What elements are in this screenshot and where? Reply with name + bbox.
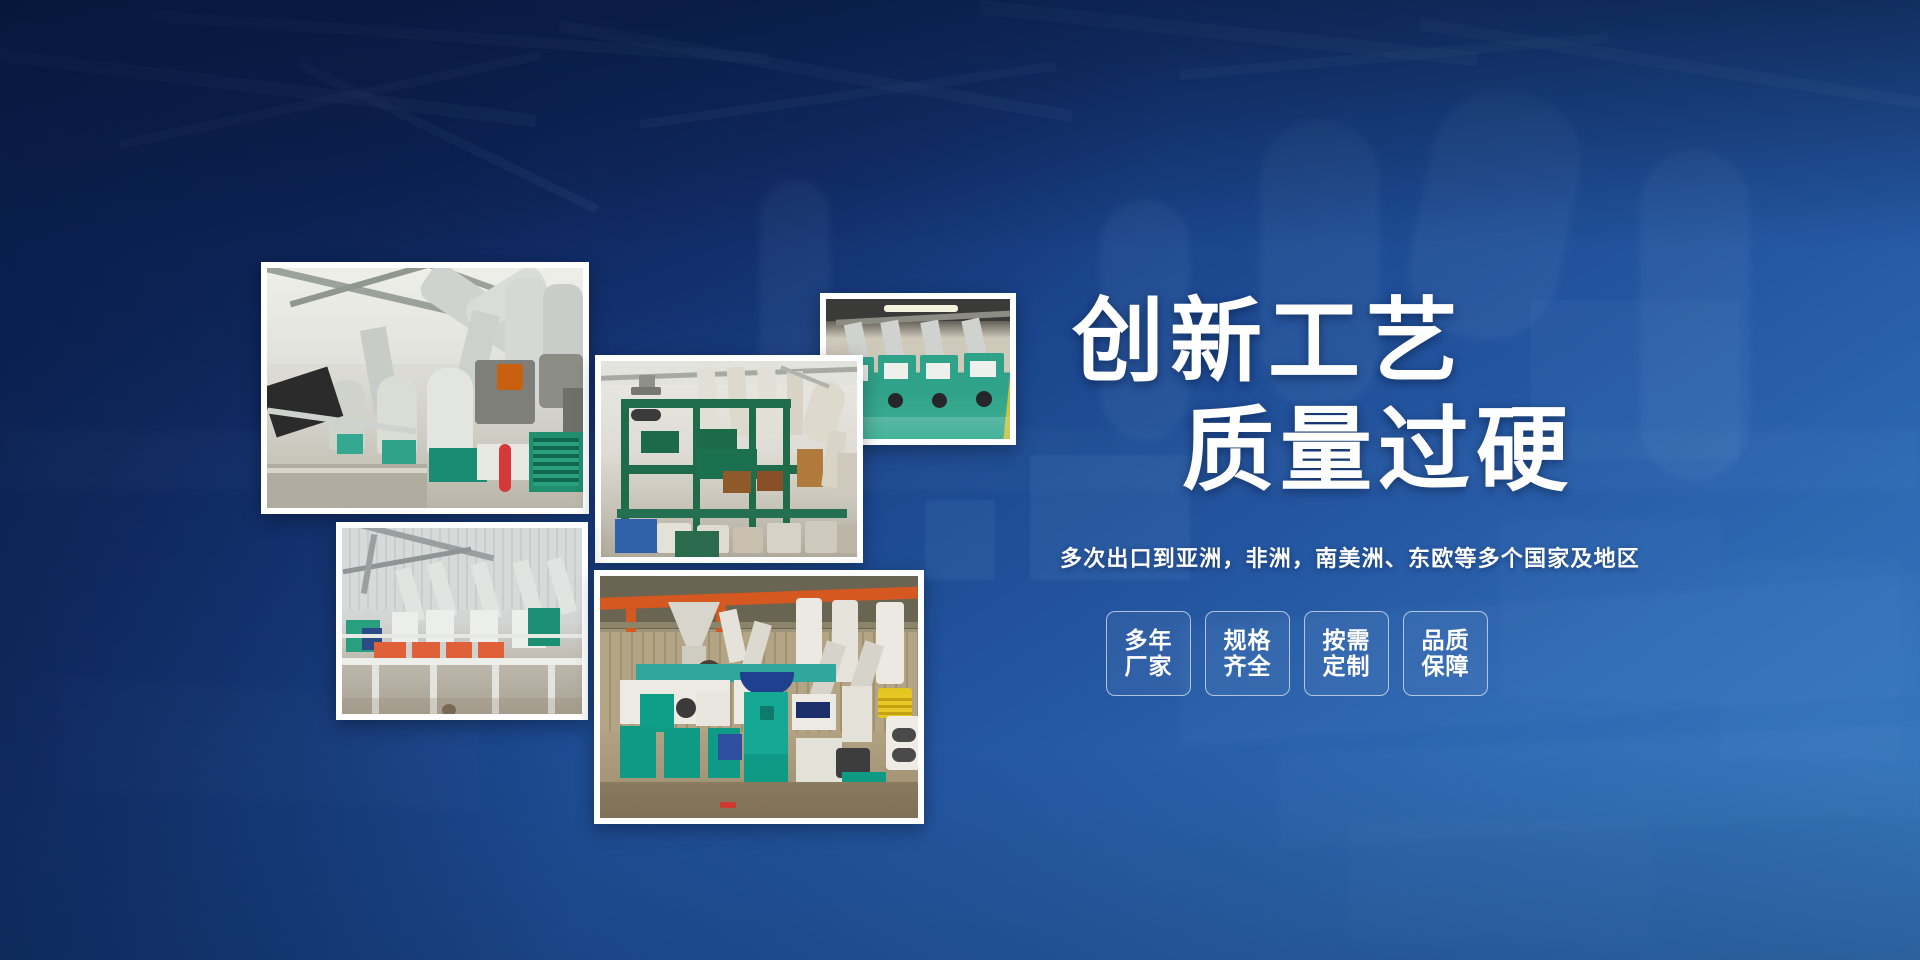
feature-badge-years[interactable]: 多年 厂家 [1106,611,1191,696]
banner-subtitle: 多次出口到亚洲，非洲，南美洲、东欧等多个国家及地区 [1060,541,1800,573]
background-panel-2 [925,500,995,580]
promo-banner: 创新工艺 质量过硬 多次出口到亚洲，非洲，南美洲、东欧等多个国家及地区 多年 厂… [0,0,1920,960]
banner-content: 创新工艺 质量过硬 多次出口到亚洲，非洲，南美洲、东欧等多个国家及地区 多年 厂… [1060,288,1800,696]
headline-line-1: 创新工艺 [1072,288,1800,397]
feature-badge-specs[interactable]: 规格 齐全 [1205,611,1290,696]
collage-photo-5[interactable] [594,570,924,824]
feature-badge-list: 多年 厂家 规格 齐全 按需 定制 品质 保障 [1106,611,1800,696]
feature-badge-quality[interactable]: 品质 保障 [1403,611,1488,696]
badge-4-line-1: 品质 [1422,628,1470,654]
headline-line-2: 质量过硬 [1182,397,1800,506]
badge-1-line-1: 多年 [1125,628,1173,654]
collage-photo-2[interactable] [595,355,863,563]
badge-1-line-2: 厂家 [1125,654,1173,680]
photo-2-image [601,361,857,557]
feature-badge-custom[interactable]: 按需 定制 [1304,611,1389,696]
photo-4-image [342,528,582,714]
photo-5-image [600,576,918,818]
badge-2-line-1: 规格 [1224,628,1272,654]
badge-2-line-2: 齐全 [1224,654,1272,680]
badge-3-line-1: 按需 [1323,628,1371,654]
collage-photo-4[interactable] [336,522,588,720]
badge-4-line-2: 保障 [1422,654,1470,680]
photo-1-image [267,268,583,508]
collage-photo-1[interactable] [261,262,589,514]
badge-3-line-2: 定制 [1323,654,1371,680]
